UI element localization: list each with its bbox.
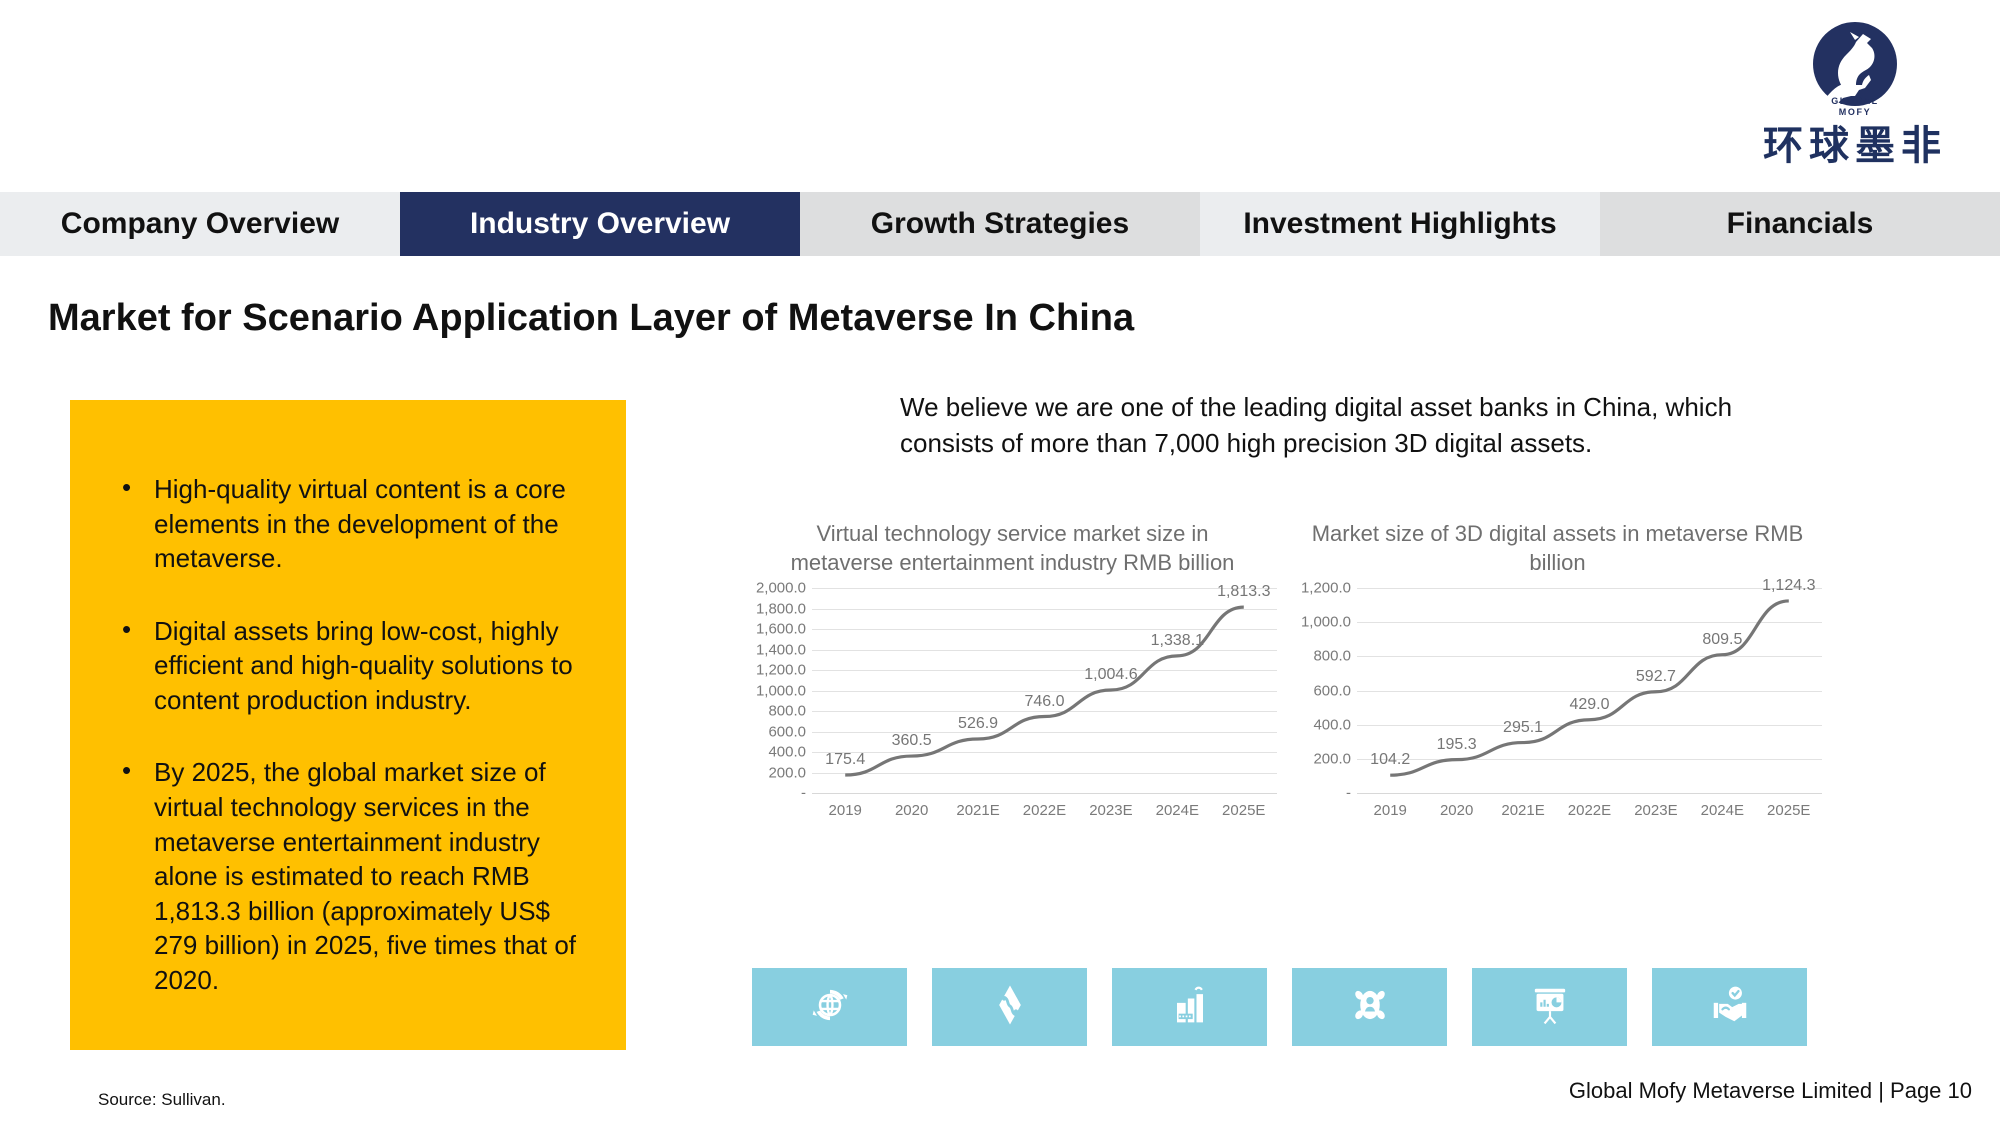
tile-user-network[interactable] (1292, 968, 1447, 1046)
tab-industry-overview[interactable]: Industry Overview (400, 192, 800, 256)
network-link-icon (984, 979, 1036, 1036)
x-tick-label: 2025E (1756, 802, 1822, 819)
svg-text:GLOBAL: GLOBAL (1831, 96, 1879, 106)
x-tick-label: 2021E (945, 802, 1011, 819)
y-tick-label: 400.0 (768, 744, 806, 761)
y-tick-label: 1,200.0 (756, 662, 806, 679)
source-note: Source: Sullivan. (98, 1090, 226, 1110)
x-tick-label: 2024E (1689, 802, 1755, 819)
y-tick-label: 800.0 (1313, 648, 1351, 665)
y-tick-label: 1,200.0 (1301, 580, 1351, 597)
footer-company-page: Global Mofy Metaverse Limited | Page 10 (1569, 1078, 1972, 1104)
x-tick-label: 2025E (1211, 802, 1277, 819)
tab-company-overview[interactable]: Company Overview (0, 192, 400, 256)
list-item: Digital assets bring low-cost, highly ef… (114, 614, 582, 718)
factory-icon (1164, 979, 1216, 1036)
svg-text:MOFY: MOFY (1839, 107, 1871, 117)
y-tick-label: 600.0 (1313, 682, 1351, 699)
x-tick-label: 2021E (1490, 802, 1556, 819)
y-tick-label: 1,000.0 (1301, 614, 1351, 631)
x-tick-label: 2023E (1078, 802, 1144, 819)
x-axis-line (812, 793, 1277, 794)
x-axis-labels: 201920202021E2022E2023E2024E2025E (1357, 802, 1822, 819)
tab-label: Investment Highlights (1243, 207, 1556, 241)
y-tick-label: 1,600.0 (756, 621, 806, 638)
tile-globe-refresh[interactable] (752, 968, 907, 1046)
chart-plot-area: -200.0400.0600.0800.01,000.01,200.0 104.… (1285, 588, 1830, 860)
x-axis-labels: 201920202021E2022E2023E2024E2025E (812, 802, 1277, 819)
x-tick-label: 2023E (1623, 802, 1689, 819)
user-network-icon (1344, 979, 1396, 1036)
x-tick-label: 2019 (1357, 802, 1423, 819)
list-item: High-quality virtual content is a core e… (114, 472, 582, 576)
tile-network-link[interactable] (932, 968, 1087, 1046)
tile-factory[interactable] (1112, 968, 1267, 1046)
y-tick-label: 1,000.0 (756, 682, 806, 699)
x-tick-label: 2024E (1144, 802, 1210, 819)
chart-plot-area: -200.0400.0600.0800.01,000.01,200.01,400… (740, 588, 1285, 860)
x-tick-label: 2022E (1011, 802, 1077, 819)
x-axis-line (1357, 793, 1822, 794)
y-tick-label: 200.0 (1313, 750, 1351, 767)
slide: GLOBAL MOFY 环球墨非 Company Overview Indust… (0, 0, 2000, 1125)
charts-row: Virtual technology service market size i… (740, 520, 1830, 860)
company-logo: GLOBAL MOFY 环球墨非 (1750, 18, 1960, 178)
unicorn-logo-icon: GLOBAL MOFY (1793, 18, 1917, 122)
tab-label: Company Overview (61, 207, 339, 241)
tab-financials[interactable]: Financials (1600, 192, 2000, 256)
x-tick-label: 2020 (1423, 802, 1489, 819)
y-axis-labels: -200.0400.0600.0800.01,000.01,200.0 (1285, 588, 1351, 793)
y-axis-labels: -200.0400.0600.0800.01,000.01,200.01,400… (740, 588, 806, 793)
y-tick-label: 600.0 (768, 723, 806, 740)
y-tick-label: 2,000.0 (756, 580, 806, 597)
chart-title: Virtual technology service market size i… (740, 520, 1285, 584)
chart-virtual-technology-service: Virtual technology service market size i… (740, 520, 1285, 860)
y-tick-label: - (801, 785, 806, 802)
logo-chinese-text: 环球墨非 (1763, 126, 1947, 166)
intro-statement: We believe we are one of the leading dig… (900, 390, 1800, 462)
presentation-chart-icon (1524, 979, 1576, 1036)
x-tick-label: 2020 (878, 802, 944, 819)
capability-tiles (752, 968, 1807, 1046)
tab-growth-strategies[interactable]: Growth Strategies (800, 192, 1200, 256)
series-line (812, 588, 1277, 793)
section-tabbar: Company Overview Industry Overview Growt… (0, 192, 2000, 256)
series-line (1357, 588, 1822, 793)
x-tick-label: 2022E (1556, 802, 1622, 819)
page-title: Market for Scenario Application Layer of… (48, 297, 1134, 340)
key-points-panel: High-quality virtual content is a core e… (70, 400, 626, 1050)
bullet-list: High-quality virtual content is a core e… (114, 472, 582, 998)
tile-presentation-chart[interactable] (1472, 968, 1627, 1046)
y-tick-label: - (1346, 785, 1351, 802)
y-tick-label: 400.0 (1313, 716, 1351, 733)
handshake-check-icon (1704, 979, 1756, 1036)
y-tick-label: 200.0 (768, 764, 806, 781)
chart-3d-digital-assets: Market size of 3D digital assets in meta… (1285, 520, 1830, 860)
y-tick-label: 1,800.0 (756, 600, 806, 617)
tab-label: Financials (1727, 207, 1874, 241)
tab-investment-highlights[interactable]: Investment Highlights (1200, 192, 1600, 256)
chart-title: Market size of 3D digital assets in meta… (1285, 520, 1830, 584)
globe-refresh-icon (804, 979, 856, 1036)
slide-header: GLOBAL MOFY 环球墨非 (0, 0, 2000, 192)
tab-label: Growth Strategies (871, 207, 1129, 241)
y-tick-label: 1,400.0 (756, 641, 806, 658)
y-tick-label: 800.0 (768, 703, 806, 720)
tile-handshake-check[interactable] (1652, 968, 1807, 1046)
list-item: By 2025, the global market size of virtu… (114, 755, 582, 997)
x-tick-label: 2019 (812, 802, 878, 819)
tab-label: Industry Overview (470, 207, 730, 241)
